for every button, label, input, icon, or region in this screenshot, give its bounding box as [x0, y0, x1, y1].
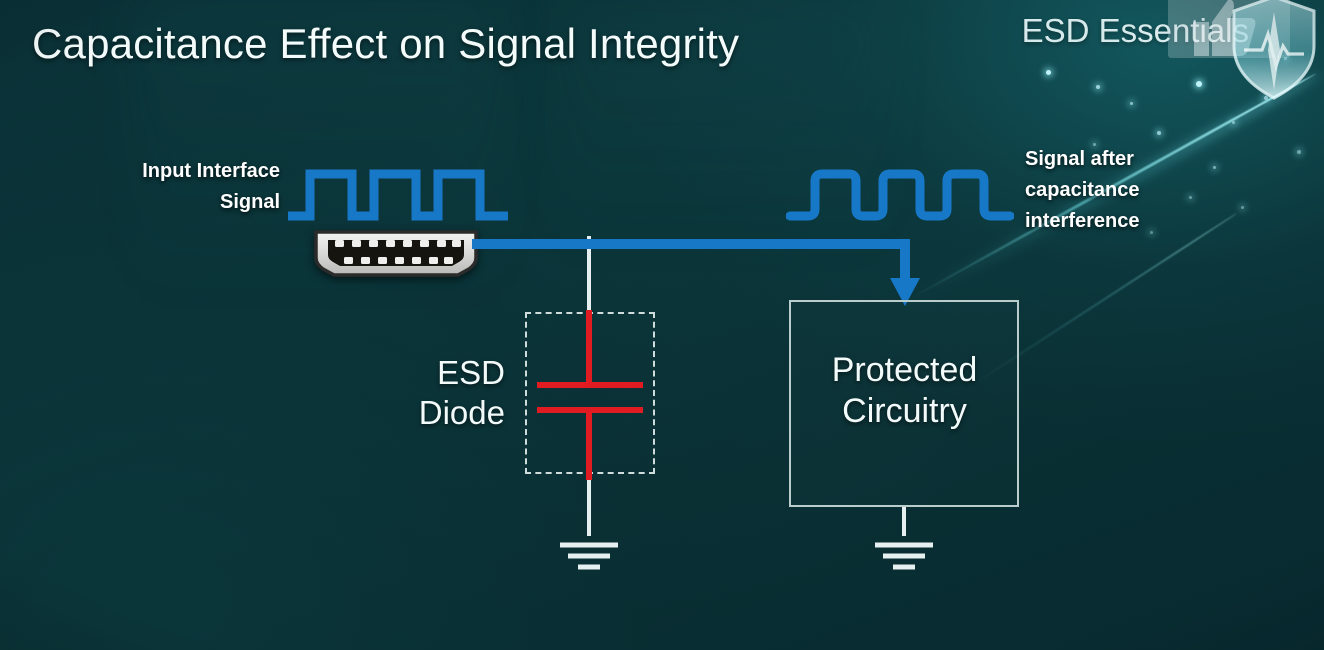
- sparkle-dot: [1232, 121, 1235, 124]
- sparkle-dot: [1264, 96, 1268, 100]
- label-line: Protected: [792, 350, 1017, 391]
- waveform-input-square: [284, 166, 512, 229]
- label-line: Circuitry: [792, 391, 1017, 432]
- hdmi-connector-icon: [308, 228, 484, 285]
- ground-symbol-icon: [867, 536, 941, 581]
- label-line: Signal after: [1025, 144, 1275, 175]
- label-line: Input Interface: [60, 156, 280, 187]
- sparkle-dot: [1046, 70, 1051, 75]
- sparkle-dot: [1196, 81, 1202, 87]
- label-signal-after-capacitance-interference: Signal after capacitance interference: [1025, 144, 1275, 237]
- label-line: Signal: [60, 187, 280, 218]
- sparkle-dot: [1096, 85, 1100, 89]
- ground-symbol-icon: [552, 536, 626, 581]
- label-line: ESD: [350, 353, 505, 393]
- slide-canvas: Capacitance Effect on Signal Integrity E…: [0, 0, 1324, 650]
- sparkle-dot: [1284, 57, 1287, 60]
- sparkle-dot: [1157, 131, 1161, 135]
- brand-title: ESD Essentials: [1022, 12, 1249, 50]
- label-input-interface-signal: Input Interface Signal: [60, 156, 280, 218]
- label-line: capacitance: [1025, 175, 1275, 206]
- label-line: Diode: [350, 393, 505, 433]
- label-line: interference: [1025, 206, 1275, 237]
- sparkle-dot: [1130, 102, 1133, 105]
- label-protected-circuitry: Protected Circuitry: [792, 350, 1017, 433]
- label-esd-diode: ESD Diode: [350, 353, 505, 434]
- waveform-output-distorted: [786, 166, 1014, 229]
- sparkle-dot: [1297, 150, 1301, 154]
- capacitor-symbol-icon: [505, 300, 681, 495]
- page-title: Capacitance Effect on Signal Integrity: [32, 20, 739, 68]
